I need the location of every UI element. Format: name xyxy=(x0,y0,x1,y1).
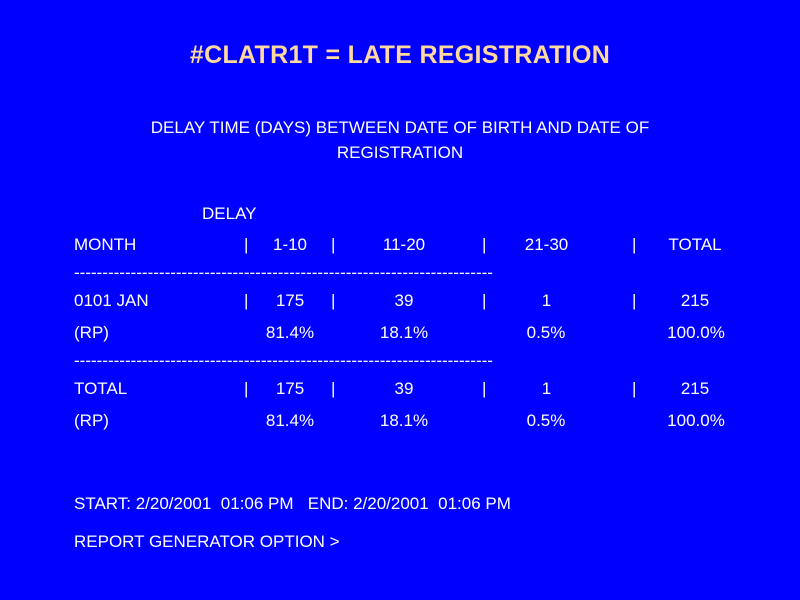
row-count-total: 215 xyxy=(650,291,740,311)
separator-dashes-2: ----------------------------------------… xyxy=(74,355,493,371)
row-count-11-20: 39 xyxy=(354,291,454,311)
table-separator-bottom: ----------------------------------------… xyxy=(74,355,734,379)
column-divider-4: | xyxy=(632,235,636,255)
group-header-delay: DELAY xyxy=(202,204,257,224)
table-row-total-percent: (RP) 81.4% 18.1% 0.5% 100.0% xyxy=(74,411,774,443)
table-header-row: MONTH | 1-10 | 11-20 | 21-30 | TOTAL xyxy=(74,235,774,267)
column-divider-1: | xyxy=(244,235,248,255)
table-group-header-row: DELAY xyxy=(74,204,774,235)
column-header-11-20: 11-20 xyxy=(354,235,454,255)
total-count-1-10: 175 xyxy=(260,379,320,399)
row-label-month: 0101 JAN xyxy=(74,291,149,311)
table-row-total: TOTAL | 175 | 39 | 1 | 215 xyxy=(74,379,774,411)
subtitle-line-2: REGISTRATION xyxy=(62,140,738,165)
total-divider-3: | xyxy=(482,379,486,399)
total-label-rp: (RP) xyxy=(74,411,109,431)
footer-prompt[interactable]: REPORT GENERATOR OPTION > xyxy=(74,532,511,570)
total-percent-total: 100.0% xyxy=(638,411,754,431)
row-label-rp: (RP) xyxy=(74,323,109,343)
total-percent-11-20: 18.1% xyxy=(352,411,456,431)
column-header-1-10: 1-10 xyxy=(260,235,320,255)
row-count-1-10: 175 xyxy=(260,291,320,311)
row-percent-total: 100.0% xyxy=(638,323,754,343)
total-count-21-30: 1 xyxy=(499,379,594,399)
total-count-11-20: 39 xyxy=(354,379,454,399)
footer-timing: START: 2/20/2001 01:06 PM END: 2/20/2001… xyxy=(74,494,511,532)
column-header-month: MONTH xyxy=(74,235,136,255)
row-percent-21-30: 0.5% xyxy=(488,323,604,343)
row-divider-2: | xyxy=(331,291,335,311)
total-label: TOTAL xyxy=(74,379,127,399)
page-title: #CLATR1T = LATE REGISTRATION xyxy=(0,41,800,70)
column-header-total: TOTAL xyxy=(650,235,740,255)
total-count-total: 215 xyxy=(650,379,740,399)
report-table: DELAY MONTH | 1-10 | 11-20 | 21-30 | TOT… xyxy=(74,204,774,443)
row-count-21-30: 1 xyxy=(499,291,594,311)
row-percent-1-10: 81.4% xyxy=(250,323,330,343)
column-divider-3: | xyxy=(482,235,486,255)
column-divider-2: | xyxy=(331,235,335,255)
total-divider-4: | xyxy=(632,379,636,399)
total-percent-21-30: 0.5% xyxy=(488,411,604,431)
table-separator-top: ----------------------------------------… xyxy=(74,267,734,291)
page-subtitle: DELAY TIME (DAYS) BETWEEN DATE OF BIRTH … xyxy=(62,115,738,165)
total-divider-1: | xyxy=(244,379,248,399)
table-row: 0101 JAN | 175 | 39 | 1 | 215 xyxy=(74,291,774,323)
total-percent-1-10: 81.4% xyxy=(250,411,330,431)
total-divider-2: | xyxy=(331,379,335,399)
separator-dashes: ----------------------------------------… xyxy=(74,267,493,283)
report-slide: #CLATR1T = LATE REGISTRATION DELAY TIME … xyxy=(0,0,800,600)
table-row-percent: (RP) 81.4% 18.1% 0.5% 100.0% xyxy=(74,323,774,355)
row-divider-4: | xyxy=(632,291,636,311)
row-divider-3: | xyxy=(482,291,486,311)
column-header-21-30: 21-30 xyxy=(499,235,594,255)
subtitle-line-1: DELAY TIME (DAYS) BETWEEN DATE OF BIRTH … xyxy=(62,115,738,140)
row-percent-11-20: 18.1% xyxy=(352,323,456,343)
row-divider-1: | xyxy=(244,291,248,311)
report-footer: START: 2/20/2001 01:06 PM END: 2/20/2001… xyxy=(74,494,511,570)
